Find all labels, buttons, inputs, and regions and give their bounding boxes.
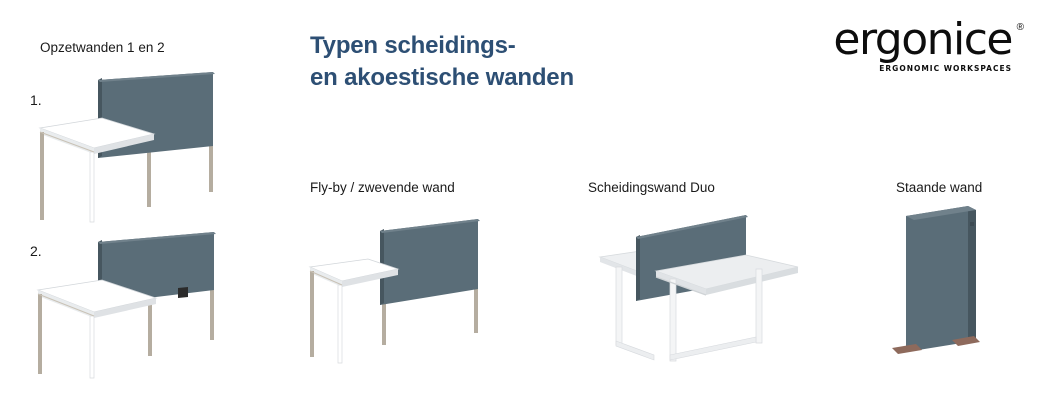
illustration-staande-wand <box>886 200 1036 370</box>
section-label-duo: Scheidingswand Duo <box>588 180 715 195</box>
illustration-opzetwand-1 <box>28 72 238 222</box>
illustration-opzetwand-2 <box>28 228 243 378</box>
section-label-opzetwanden: Opzetwanden 1 en 2 <box>40 40 165 55</box>
logo-wordmark: ergonice <box>833 14 1012 65</box>
page-title-line-1: Typen scheidings- <box>310 32 516 59</box>
page-title: Typen scheidings- en akoestische wanden <box>310 30 730 94</box>
logo-tagline: ERGONOMIC WORKSPACES <box>879 64 1012 73</box>
panel-fixing-detail <box>970 222 974 226</box>
registered-trademark-icon: ® <box>1017 22 1024 33</box>
illustration-flyby-wand <box>302 215 532 365</box>
page-title-line-2: en akoestische wanden <box>310 62 730 94</box>
infographic-page: Typen scheidings- en akoestische wanden … <box>0 0 1044 415</box>
acoustic-panel <box>380 219 480 305</box>
acoustic-panel <box>906 206 976 352</box>
section-label-flyby: Fly-by / zwevende wand <box>310 180 455 195</box>
section-label-staande: Staande wand <box>896 180 982 195</box>
illustration-scheidingswand-duo <box>594 205 824 365</box>
brand-logo: ergonice ® ERGONOMIC WORKSPACES <box>826 18 1026 80</box>
